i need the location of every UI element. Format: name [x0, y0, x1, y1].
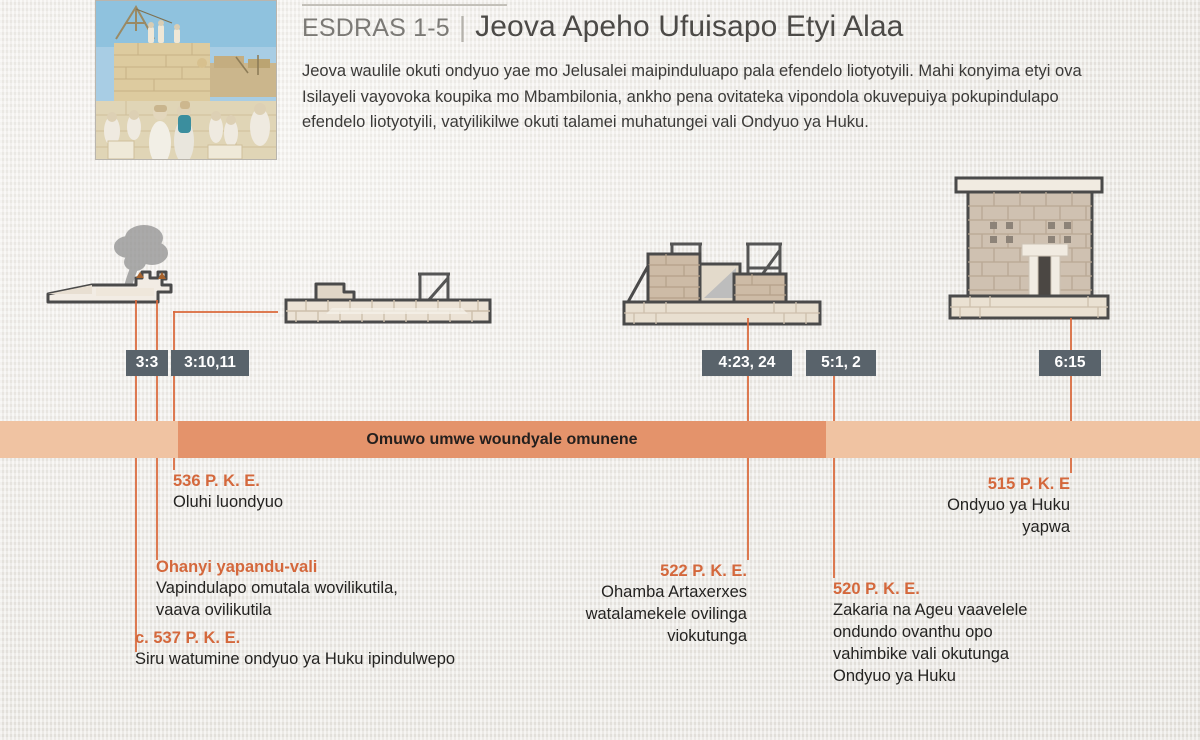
badge-3-3[interactable]: 3:3	[126, 350, 168, 376]
annotation-ohanyi-year: Ohanyi yapandu-vali	[156, 556, 398, 578]
temple-construction-illustration	[96, 1, 276, 159]
annotation-536-text: Oluhi luondyuo	[173, 492, 283, 514]
annotation-515: 515 P. K. E Ondyuo ya Huku yapwa	[830, 473, 1070, 539]
annotation-522: 522 P. K. E. Ohamba Artaxerxes watalamek…	[447, 560, 747, 648]
badge-3-10-11[interactable]: 3:10,11	[171, 350, 249, 376]
annotation-ohanyi: Ohanyi yapandu-vali Vapindulapo omutala …	[156, 556, 398, 622]
infographic-sheet: ESDRAS 1-5 | Jeova Apeho Ufuisapo Etyi A…	[0, 0, 1200, 740]
annotation-537-text: Siru watumine ondyuo ya Huku ipindulwepo	[135, 649, 455, 671]
scripture-reference: ESDRAS 1-5	[302, 14, 450, 43]
annotation-ohanyi-line1: Vapindulapo omutala wovilikutila,	[156, 578, 398, 600]
scene-temple-under-construction	[622, 232, 842, 332]
annotation-536-year: 536 P. K. E.	[173, 470, 283, 492]
annotation-522-line3: viokutunga	[447, 626, 747, 648]
scene-temple-foundation	[272, 258, 512, 330]
badge-4-23-24[interactable]: 4:23, 24	[702, 350, 792, 376]
scene-altar-with-smoke	[40, 222, 220, 334]
header-body-text: Jeova waulile okuti ondyuo yae mo Jelusa…	[302, 59, 1097, 136]
annotation-520-line2: ondundo ovanthu opo	[833, 622, 1027, 644]
annotation-515-line1: Ondyuo ya Huku	[830, 495, 1070, 517]
annotation-522-line1: Ohamba Artaxerxes	[447, 582, 747, 604]
connector-line-520	[833, 355, 835, 578]
annotation-515-line2: yapwa	[830, 517, 1070, 539]
header-divider-rule	[302, 4, 507, 6]
annotation-520-year: 520 P. K. E.	[833, 578, 1027, 600]
annotation-522-line2: watalamekele ovilinga	[447, 604, 747, 626]
annotation-515-year: 515 P. K. E	[830, 473, 1070, 495]
annotation-522-year: 522 P. K. E.	[447, 560, 747, 582]
annotation-ohanyi-line2: vaava ovilikutila	[156, 600, 398, 622]
timeline-band-label: Omuwo umwe woundyale omunene	[178, 421, 826, 458]
connector-line-536-horizontal	[173, 311, 278, 313]
annotation-537-year: c. 537 P. K. E.	[135, 627, 455, 649]
badge-5-1-2[interactable]: 5:1, 2	[806, 350, 876, 376]
annotation-537: c. 537 P. K. E. Siru watumine ondyuo ya …	[135, 627, 455, 671]
page-title: Jeova Apeho Ufuisapo Etyi Alaa	[475, 10, 903, 44]
annotation-520: 520 P. K. E. Zakaria na Ageu vaavelele o…	[833, 578, 1027, 688]
header-thumbnail-image	[95, 0, 277, 160]
title-separator: |	[459, 11, 466, 43]
annotation-520-line3: vahimbike vali okutunga	[833, 644, 1027, 666]
annotation-536: 536 P. K. E. Oluhi luondyuo	[173, 470, 283, 514]
badge-6-15[interactable]: 6:15	[1039, 350, 1101, 376]
annotation-520-line4: Ondyuo ya Huku	[833, 666, 1027, 688]
header-block: ESDRAS 1-5 | Jeova Apeho Ufuisapo Etyi A…	[302, 10, 1182, 136]
annotation-520-line1: Zakaria na Ageu vaavelele	[833, 600, 1027, 622]
header-title-line: ESDRAS 1-5 | Jeova Apeho Ufuisapo Etyi A…	[302, 10, 1182, 44]
scene-completed-temple	[936, 172, 1116, 324]
